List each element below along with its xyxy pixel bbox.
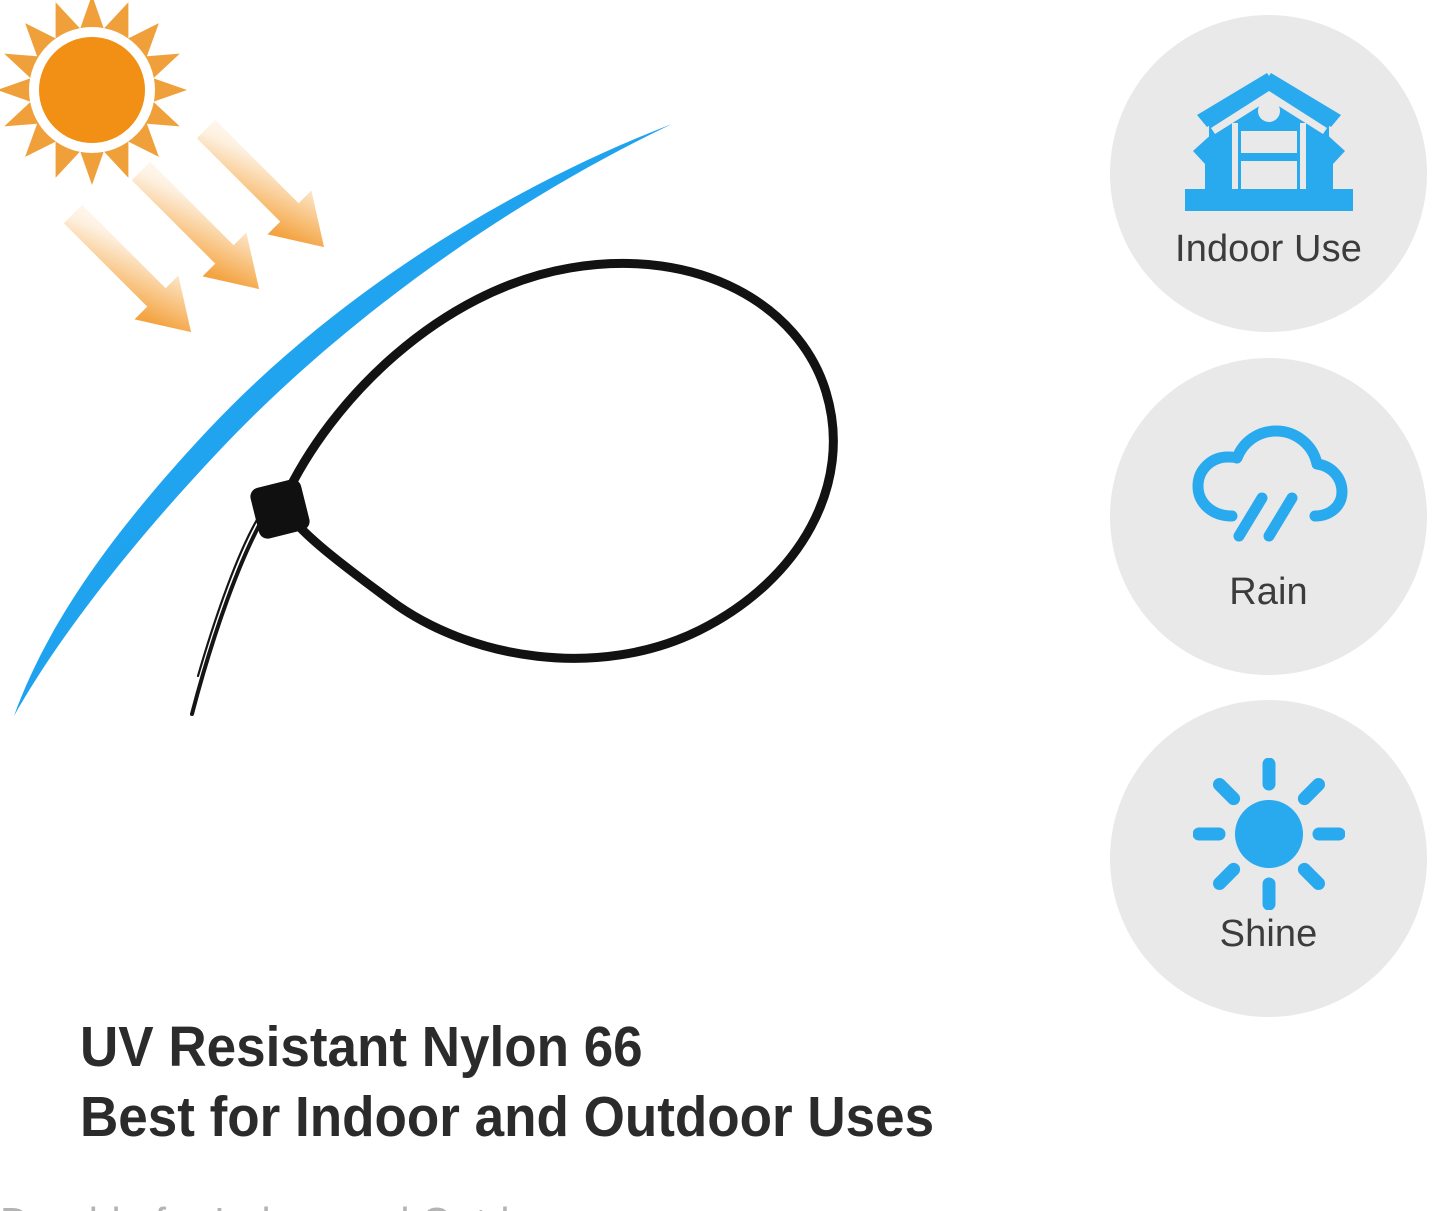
- badge-label-shine: Shine: [1110, 912, 1427, 956]
- rain-cloud-icon: [1184, 420, 1354, 560]
- headline-line-2: Best for Indoor and Outdoor Uses: [80, 1082, 973, 1152]
- badge-indoor-use[interactable]: Indoor Use: [1110, 15, 1427, 332]
- infographic-canvas: Indoor Use Rain: [0, 0, 1432, 1211]
- headline-line-1: UV Resistant Nylon 66: [80, 1012, 973, 1082]
- house-icon: [1179, 67, 1359, 217]
- uv-shield-arc: [14, 124, 672, 716]
- badge-label-indoor-use: Indoor Use: [1110, 227, 1427, 271]
- headline-clipped-line: Durable for Indoor and Outdoor: [0, 1199, 893, 1211]
- sun-shine-icon: [1193, 758, 1345, 910]
- badge-rain[interactable]: Rain: [1110, 358, 1427, 675]
- feature-badge-list: Indoor Use Rain: [1110, 0, 1432, 1020]
- sun-rays-icon: [0, 0, 187, 185]
- badge-shine[interactable]: Shine: [1110, 700, 1427, 1017]
- headline-clipped-line-container: Durable for Indoor and Outdoor: [0, 1199, 960, 1211]
- cable-tie-loop: [192, 263, 833, 714]
- uv-resistance-illustration: [0, 0, 1090, 1000]
- badge-label-rain: Rain: [1110, 570, 1427, 614]
- headline-block: UV Resistant Nylon 66 Best for Indoor an…: [80, 1012, 1040, 1152]
